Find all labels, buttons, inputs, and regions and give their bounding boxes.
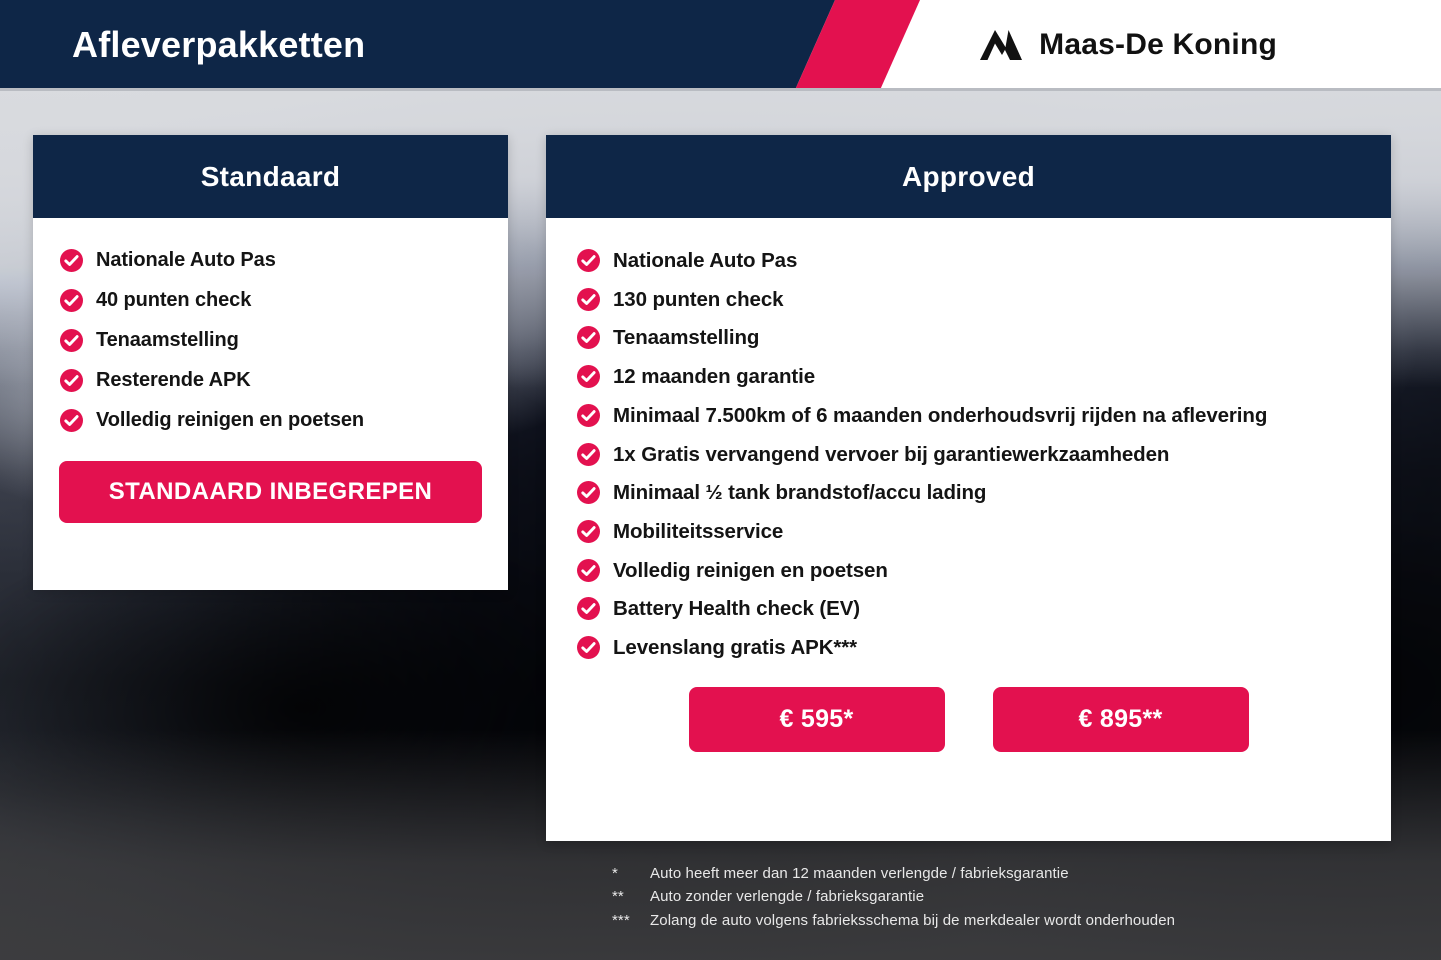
feature-label: Volledig reinigen en poetsen: [96, 406, 364, 435]
feature-item: Tenaamstelling: [576, 323, 1361, 353]
package-title-standaard: Standaard: [33, 135, 508, 218]
brand-name: Maas-De Koning: [1039, 28, 1277, 62]
footnote-text: Auto zonder verlengde / fabrieksgarantie: [650, 885, 924, 908]
footnote-row: *Auto heeft meer dan 12 maanden verlengd…: [612, 862, 1392, 885]
check-circle-icon: [59, 368, 84, 393]
feature-item: Battery Health check (EV): [576, 594, 1361, 624]
feature-item: Resterende APK: [59, 366, 482, 395]
check-circle-icon: [576, 519, 601, 544]
check-circle-icon: [576, 325, 601, 350]
feature-label: Battery Health check (EV): [613, 594, 860, 624]
feature-item: Nationale Auto Pas: [59, 246, 482, 275]
feature-item: 1x Gratis vervangend vervoer bij garanti…: [576, 440, 1361, 470]
maas-de-koning-m-mark-icon: [978, 26, 1024, 64]
feature-label: Volledig reinigen en poetsen: [613, 556, 888, 586]
footnote-marker: **: [612, 885, 650, 908]
feature-label: Resterende APK: [96, 366, 251, 395]
check-circle-icon: [59, 248, 84, 273]
check-circle-icon: [59, 328, 84, 353]
header-divider: [0, 88, 1441, 91]
price-button-2[interactable]: € 895**: [993, 687, 1249, 752]
feature-item: Volledig reinigen en poetsen: [576, 556, 1361, 586]
check-circle-icon: [576, 442, 601, 467]
feature-item: Minimaal 7.500km of 6 maanden onderhouds…: [576, 401, 1361, 431]
footnote-text: Auto heeft meer dan 12 maanden verlengde…: [650, 862, 1069, 885]
feature-label: 12 maanden garantie: [613, 362, 815, 392]
check-circle-icon: [576, 364, 601, 389]
footnote-marker: ***: [612, 909, 650, 932]
check-circle-icon: [576, 596, 601, 621]
feature-item: Tenaamstelling: [59, 326, 482, 355]
page-header: Afleverpakketten Maas-De Koning: [0, 0, 1441, 90]
feature-label: Levenslang gratis APK***: [613, 633, 857, 663]
standaard-included-badge[interactable]: STANDAARD INBEGREPEN: [59, 461, 482, 523]
package-card-standaard: Standaard Nationale Auto Pas40 punten ch…: [33, 135, 508, 590]
feature-item: Minimaal ½ tank brandstof/accu lading: [576, 478, 1361, 508]
price-button-1[interactable]: € 595*: [689, 687, 945, 752]
check-circle-icon: [576, 287, 601, 312]
footnote-text: Zolang de auto volgens fabrieksschema bi…: [650, 909, 1175, 932]
feature-list-approved: Nationale Auto Pas130 punten checkTenaam…: [576, 246, 1361, 663]
check-circle-icon: [59, 408, 84, 433]
feature-item: Nationale Auto Pas: [576, 246, 1361, 276]
check-circle-icon: [576, 558, 601, 583]
feature-label: Nationale Auto Pas: [96, 246, 276, 275]
feature-label: 1x Gratis vervangend vervoer bij garanti…: [613, 440, 1169, 470]
check-circle-icon: [576, 635, 601, 660]
page-title: Afleverpakketten: [72, 24, 365, 66]
brand-lockup: Maas-De Koning: [978, 26, 1277, 64]
footnote-block: *Auto heeft meer dan 12 maanden verlengd…: [612, 862, 1392, 932]
package-title-approved: Approved: [546, 135, 1391, 218]
feature-item: Volledig reinigen en poetsen: [59, 406, 482, 435]
feature-label: Mobiliteitsservice: [613, 517, 783, 547]
feature-item: 12 maanden garantie: [576, 362, 1361, 392]
feature-item: Mobiliteitsservice: [576, 517, 1361, 547]
feature-list-standaard: Nationale Auto Pas40 punten checkTenaams…: [59, 246, 482, 435]
feature-label: Tenaamstelling: [613, 323, 759, 353]
feature-label: 40 punten check: [96, 286, 251, 315]
check-circle-icon: [59, 288, 84, 313]
check-circle-icon: [576, 403, 601, 428]
check-circle-icon: [576, 480, 601, 505]
feature-label: Nationale Auto Pas: [613, 246, 797, 276]
feature-item: 130 punten check: [576, 285, 1361, 315]
price-button-row: € 595*€ 895**: [576, 687, 1361, 752]
package-body-standaard: Nationale Auto Pas40 punten checkTenaams…: [33, 218, 508, 523]
feature-item: Levenslang gratis APK***: [576, 633, 1361, 663]
feature-label: 130 punten check: [613, 285, 783, 315]
footnote-marker: *: [612, 862, 650, 885]
footnote-row: **Auto zonder verlengde / fabrieksgarant…: [612, 885, 1392, 908]
feature-item: 40 punten check: [59, 286, 482, 315]
package-body-approved: Nationale Auto Pas130 punten checkTenaam…: [546, 218, 1391, 752]
check-circle-icon: [576, 248, 601, 273]
feature-label: Minimaal 7.500km of 6 maanden onderhouds…: [613, 401, 1267, 431]
afleverpakketten-infographic: Afleverpakketten Maas-De Koning Standaar…: [0, 0, 1441, 960]
package-card-approved: Approved Nationale Auto Pas130 punten ch…: [546, 135, 1391, 841]
footnote-row: ***Zolang de auto volgens fabrieksschema…: [612, 909, 1392, 932]
feature-label: Tenaamstelling: [96, 326, 239, 355]
feature-label: Minimaal ½ tank brandstof/accu lading: [613, 478, 986, 508]
